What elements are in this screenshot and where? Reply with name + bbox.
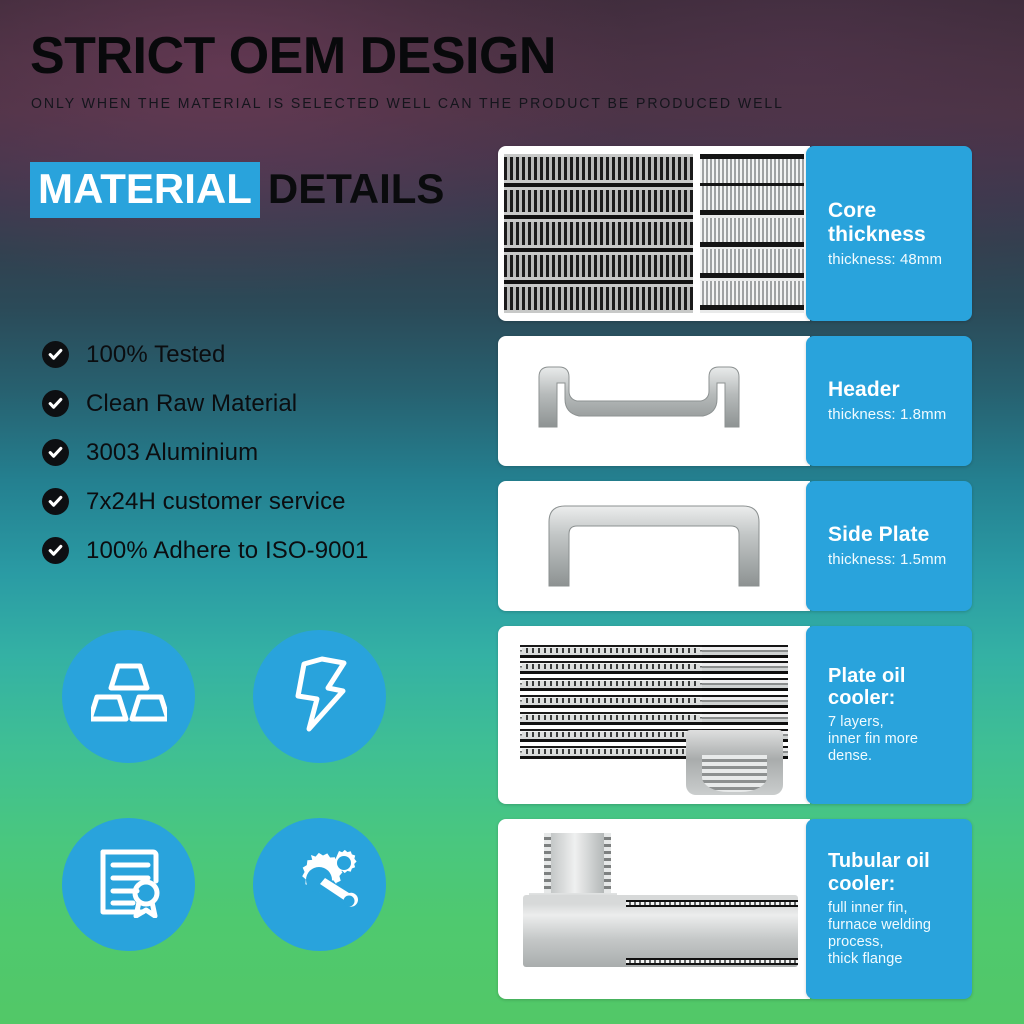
list-item: Clean Raw Material	[42, 379, 472, 428]
check-circle-icon	[42, 341, 69, 368]
certificate-icon	[93, 846, 165, 923]
material-card-label: Side Plate thickness: 1.5mm	[806, 481, 972, 611]
side-plate-photo	[498, 481, 810, 611]
list-item-label: 100% Tested	[86, 341, 225, 369]
material-card-label: Header thickness: 1.8mm	[806, 336, 972, 466]
icon-badge-certificate	[62, 818, 195, 951]
list-item: 3003 Aluminium	[42, 428, 472, 477]
icon-badge-service	[253, 818, 386, 951]
tubular-oil-cooler-photo	[498, 819, 810, 999]
material-card-desc: full inner fin, furnace welding process,…	[828, 900, 972, 968]
list-item: 7x24H customer service	[42, 477, 472, 526]
metal-ingots-icon	[91, 661, 167, 732]
radiator-core-photo	[498, 146, 810, 321]
list-item-label: 7x24H customer service	[86, 488, 346, 516]
material-card-title: Core thickness	[828, 199, 972, 247]
icon-badge-material	[62, 630, 195, 763]
list-item-label: Clean Raw Material	[86, 390, 297, 418]
feature-bullet-list: 100% Tested Clean Raw Material 3003 Alum…	[42, 330, 472, 575]
material-card-desc: thickness: 1.8mm	[828, 406, 972, 424]
material-card-label: Plate oil cooler: 7 layers, inner fin mo…	[806, 626, 972, 804]
page-subtitle: ONLY WHEN THE MATERIAL IS SELECTED WELL …	[31, 96, 784, 112]
check-circle-icon	[42, 390, 69, 417]
material-card: Tubular oil cooler: full inner fin, furn…	[498, 819, 972, 999]
feature-icon-grid	[62, 630, 386, 951]
material-card: Header thickness: 1.8mm	[498, 336, 972, 466]
material-card-label: Core thickness thickness: 48mm	[806, 146, 972, 321]
material-card-title: Header	[828, 378, 972, 402]
section-heading-highlight: MATERIAL	[30, 162, 260, 218]
plate-oil-cooler-photo	[498, 626, 810, 804]
list-item-label: 3003 Aluminium	[86, 439, 258, 467]
page-title: STRICT OEM DESIGN	[30, 30, 556, 82]
section-heading-rest: DETAILS	[260, 168, 445, 212]
icon-badge-power	[253, 630, 386, 763]
section-heading: MATERIAL DETAILS	[30, 162, 444, 218]
check-circle-icon	[42, 488, 69, 515]
check-circle-icon	[42, 537, 69, 564]
gear-wrench-icon	[281, 847, 359, 922]
material-card-desc: thickness: 48mm	[828, 251, 972, 269]
check-circle-icon	[42, 439, 69, 466]
list-item-label: 100% Adhere to ISO-9001	[86, 537, 369, 565]
list-item: 100% Adhere to ISO-9001	[42, 526, 472, 575]
list-item: 100% Tested	[42, 330, 472, 379]
material-card-desc: thickness: 1.5mm	[828, 551, 972, 569]
material-card-title: Side Plate	[828, 523, 972, 547]
material-card: Side Plate thickness: 1.5mm	[498, 481, 972, 611]
material-card-title: Plate oil cooler:	[828, 665, 972, 711]
material-card: Core thickness thickness: 48mm	[498, 146, 972, 321]
material-detail-card-list: Core thickness thickness: 48mm Header th…	[498, 146, 972, 1014]
material-card: Plate oil cooler: 7 layers, inner fin mo…	[498, 626, 972, 804]
lightning-bolt-icon	[292, 655, 348, 738]
material-card-desc: 7 layers, inner fin more dense.	[828, 714, 972, 765]
material-card-title: Tubular oil cooler:	[828, 850, 972, 896]
header-profile-photo	[498, 336, 810, 466]
material-card-label: Tubular oil cooler: full inner fin, furn…	[806, 819, 972, 999]
